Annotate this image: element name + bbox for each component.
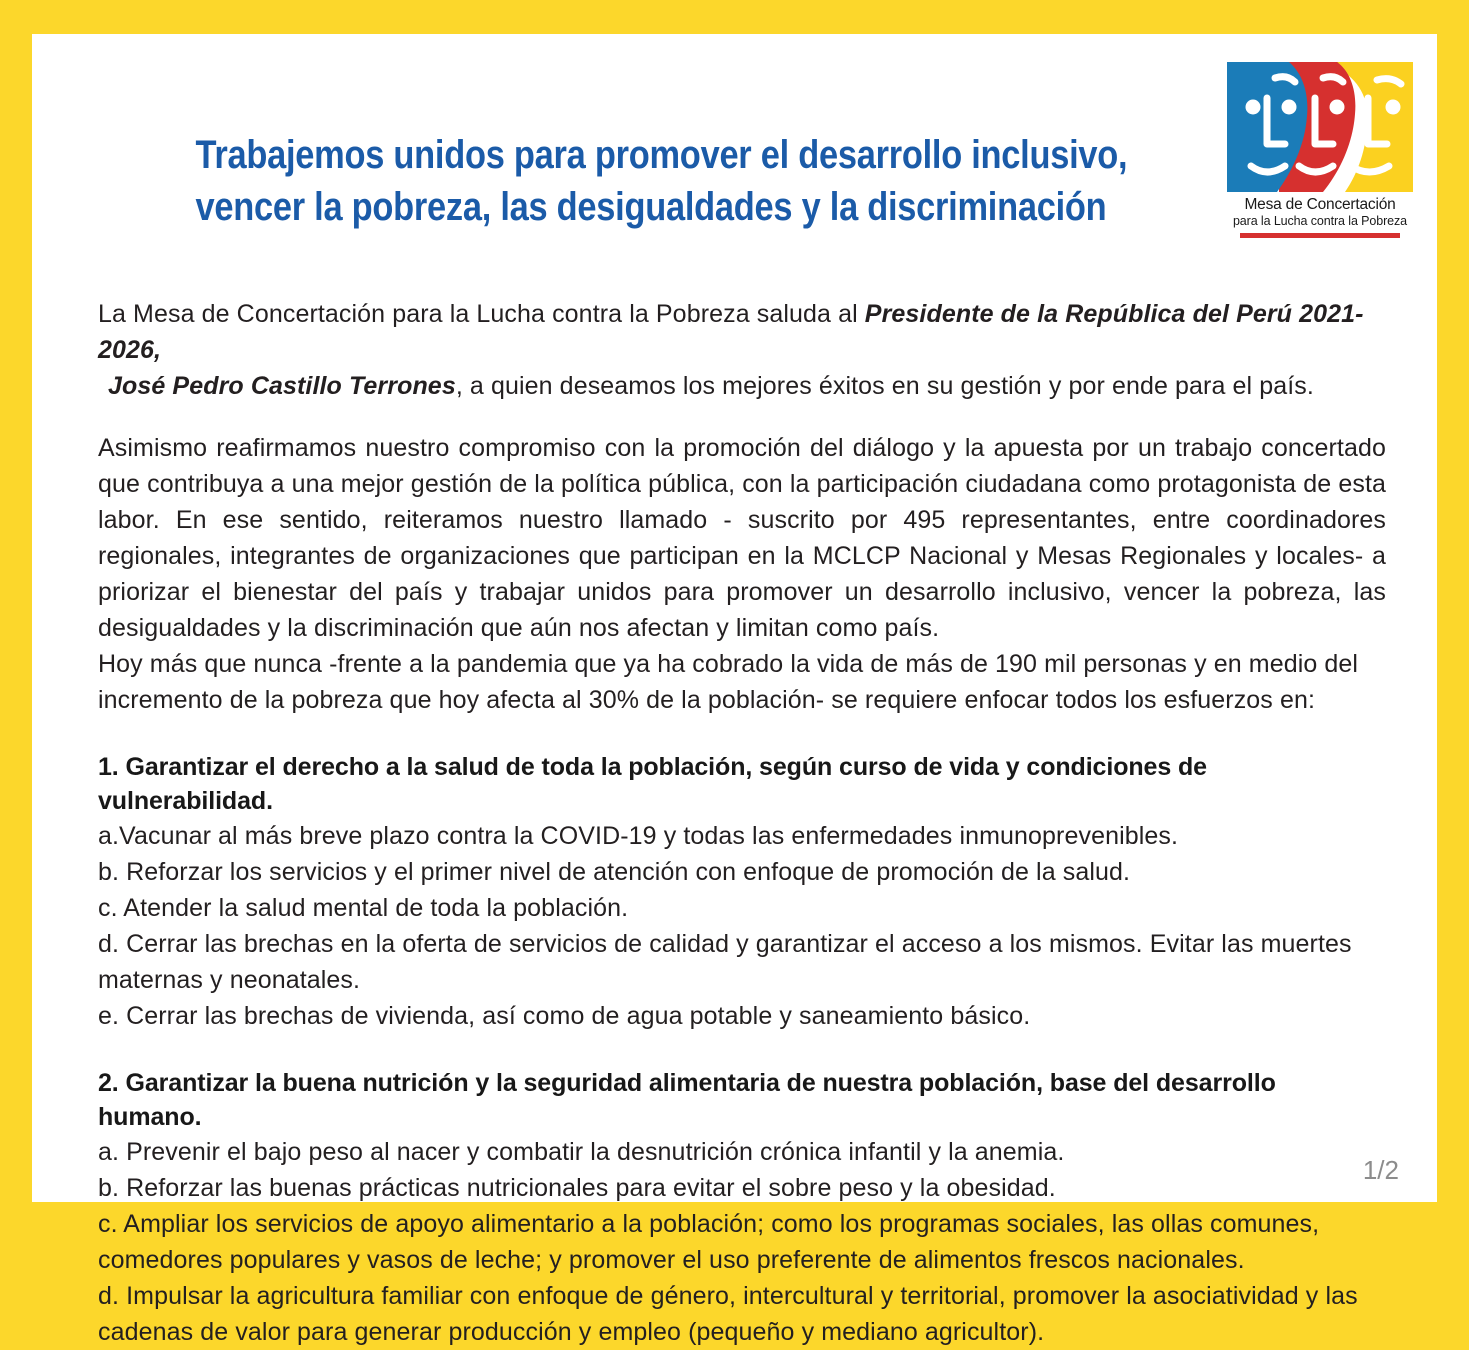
- salutation-paragraph: La Mesa de Concertación para la Lucha co…: [98, 296, 1386, 404]
- paragraph-commitment: Asimismo reafirmamos nuestro compromiso …: [98, 430, 1386, 646]
- spacer: [98, 1034, 1386, 1066]
- document-page: Trabajemos unidos para promover el desar…: [32, 34, 1437, 1202]
- title-line-1: Trabajemos unidos para promover el desar…: [196, 129, 1099, 181]
- list-item: d. Impulsar la agricultura familiar con …: [98, 1278, 1386, 1350]
- list-item: c. Atender la salud mental de toda la po…: [98, 890, 1386, 926]
- logo-text-primary: Mesa de Concertación: [1225, 196, 1415, 214]
- title-line-2: vencer la pobreza, las desigualdades y l…: [196, 181, 1099, 233]
- section-heading-1: 1. Garantizar el derecho a la salud de t…: [98, 750, 1386, 818]
- list-item: b. Reforzar los servicios y el primer ni…: [98, 854, 1386, 890]
- mclcp-logo: Mesa de Concertación para la Lucha contr…: [1225, 62, 1415, 262]
- logo-red-rule: [1240, 233, 1400, 238]
- document-body: La Mesa de Concertación para la Lucha co…: [98, 296, 1386, 1350]
- paragraph-pandemic: Hoy más que nunca -frente a la pandemia …: [98, 646, 1386, 718]
- section-heading-2: 2. Garantizar la buena nutrición y la se…: [98, 1066, 1386, 1134]
- salutation-lead-1: La Mesa de Concertación para la Lucha co…: [98, 300, 865, 328]
- list-item: e. Cerrar las brechas de vivienda, así c…: [98, 998, 1386, 1034]
- list-item: a. Prevenir el bajo peso al nacer y comb…: [98, 1134, 1386, 1170]
- spacer: [98, 404, 1386, 430]
- spacer: [98, 718, 1386, 750]
- logo-text-secondary: para la Lucha contra la Pobreza: [1225, 214, 1415, 229]
- list-item: a.Vacunar al más breve plazo contra la C…: [98, 818, 1386, 854]
- three-faces-logo-icon: [1227, 62, 1413, 192]
- list-item: c. Ampliar los servicios de apoyo alimen…: [98, 1206, 1386, 1278]
- page-title: Trabajemos unidos para promover el desar…: [122, 129, 1172, 233]
- salutation-lead-2: , a quien deseamos los mejores éxitos en…: [456, 372, 1314, 400]
- page-number: 1/2: [1363, 1155, 1399, 1186]
- list-item: d. Cerrar las brechas en la oferta de se…: [98, 926, 1386, 998]
- list-item: b. Reforzar las buenas prácticas nutrici…: [98, 1170, 1386, 1206]
- salutation-emphasis-2: José Pedro Castillo Terrones: [108, 372, 456, 400]
- document-header: Trabajemos unidos para promover el desar…: [32, 34, 1437, 272]
